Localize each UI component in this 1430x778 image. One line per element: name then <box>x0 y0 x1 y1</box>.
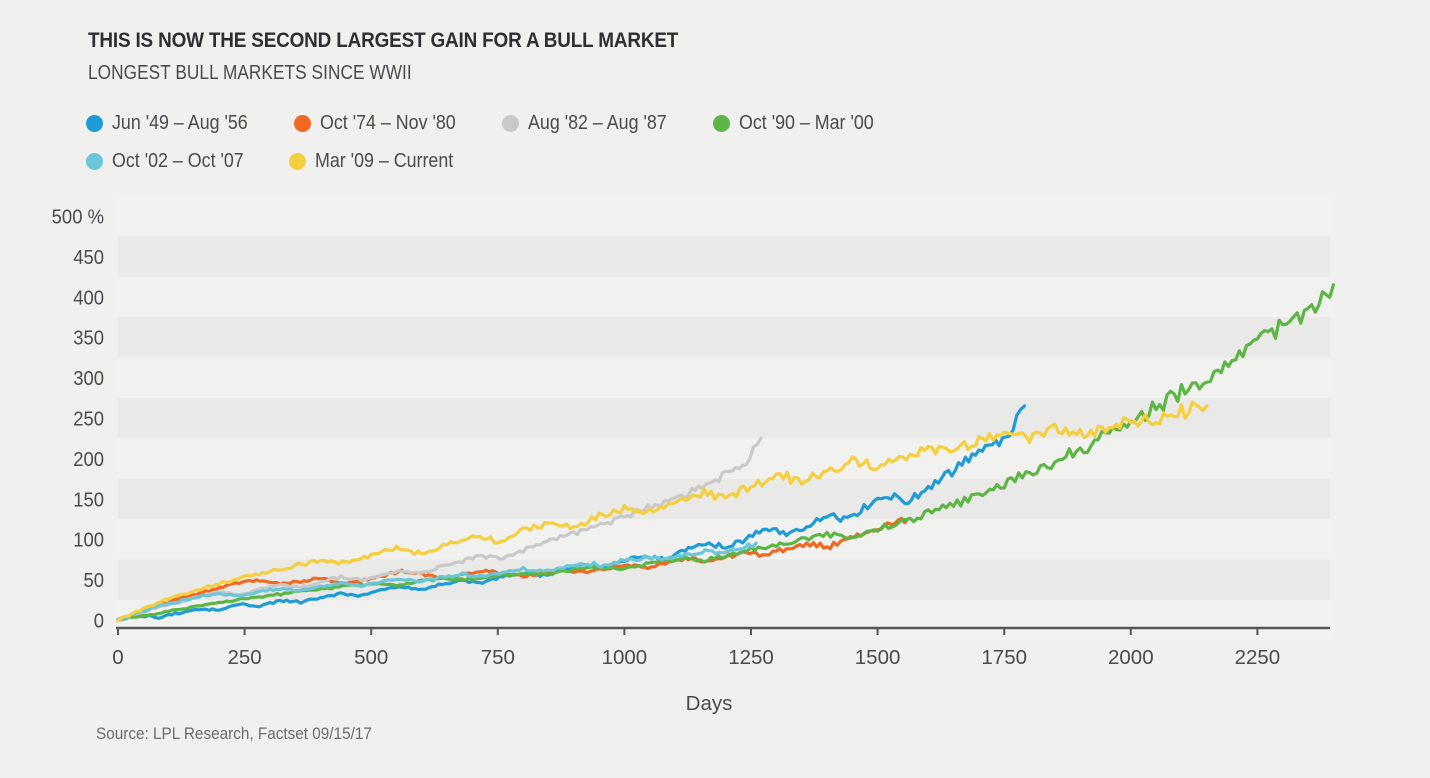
chart-plot-area: 050100150200250300350400450500 %02505007… <box>0 0 1430 778</box>
chart-page: THIS IS NOW THE SECOND LARGEST GAIN FOR … <box>0 0 1430 778</box>
y-tick-label: 300 <box>73 367 104 390</box>
y-tick-label: 450 <box>73 246 104 269</box>
grid-band <box>118 236 1330 276</box>
line-chart-svg: 050100150200250300350400450500 %02505007… <box>0 0 1430 778</box>
x-tick-label: 2250 <box>1235 646 1281 669</box>
y-tick-label: 50 <box>83 569 104 592</box>
source-note: Source: LPL Research, Factset 09/15/17 <box>96 724 372 744</box>
grid-band <box>118 196 1330 236</box>
y-tick-label: 150 <box>73 488 104 511</box>
y-tick-label: 500 % <box>52 206 104 229</box>
x-tick-label: 1750 <box>981 646 1027 669</box>
grid-band <box>118 479 1330 519</box>
y-tick-label: 400 <box>73 286 104 309</box>
x-tick-label: 250 <box>227 646 261 669</box>
y-tick-label: 350 <box>73 327 104 350</box>
grid-band <box>118 317 1330 357</box>
x-axis-title: Days <box>686 692 733 715</box>
x-tick-label: 500 <box>354 646 388 669</box>
y-tick-label: 200 <box>73 448 104 471</box>
y-tick-label: 100 <box>73 529 104 552</box>
grid-band <box>118 277 1330 317</box>
x-tick-label: 1250 <box>728 646 774 669</box>
y-tick-label: 0 <box>94 610 104 633</box>
grid-band <box>118 600 1330 640</box>
x-tick-label: 0 <box>112 646 123 669</box>
grid-band <box>118 559 1330 599</box>
x-tick-label: 2000 <box>1108 646 1154 669</box>
grid-band <box>118 357 1330 397</box>
x-tick-label: 1000 <box>602 646 648 669</box>
y-tick-label: 250 <box>73 408 104 431</box>
x-tick-label: 750 <box>481 646 515 669</box>
x-tick-label: 1500 <box>855 646 901 669</box>
y-axis: 050100150200250300350400450500 % <box>52 206 104 633</box>
